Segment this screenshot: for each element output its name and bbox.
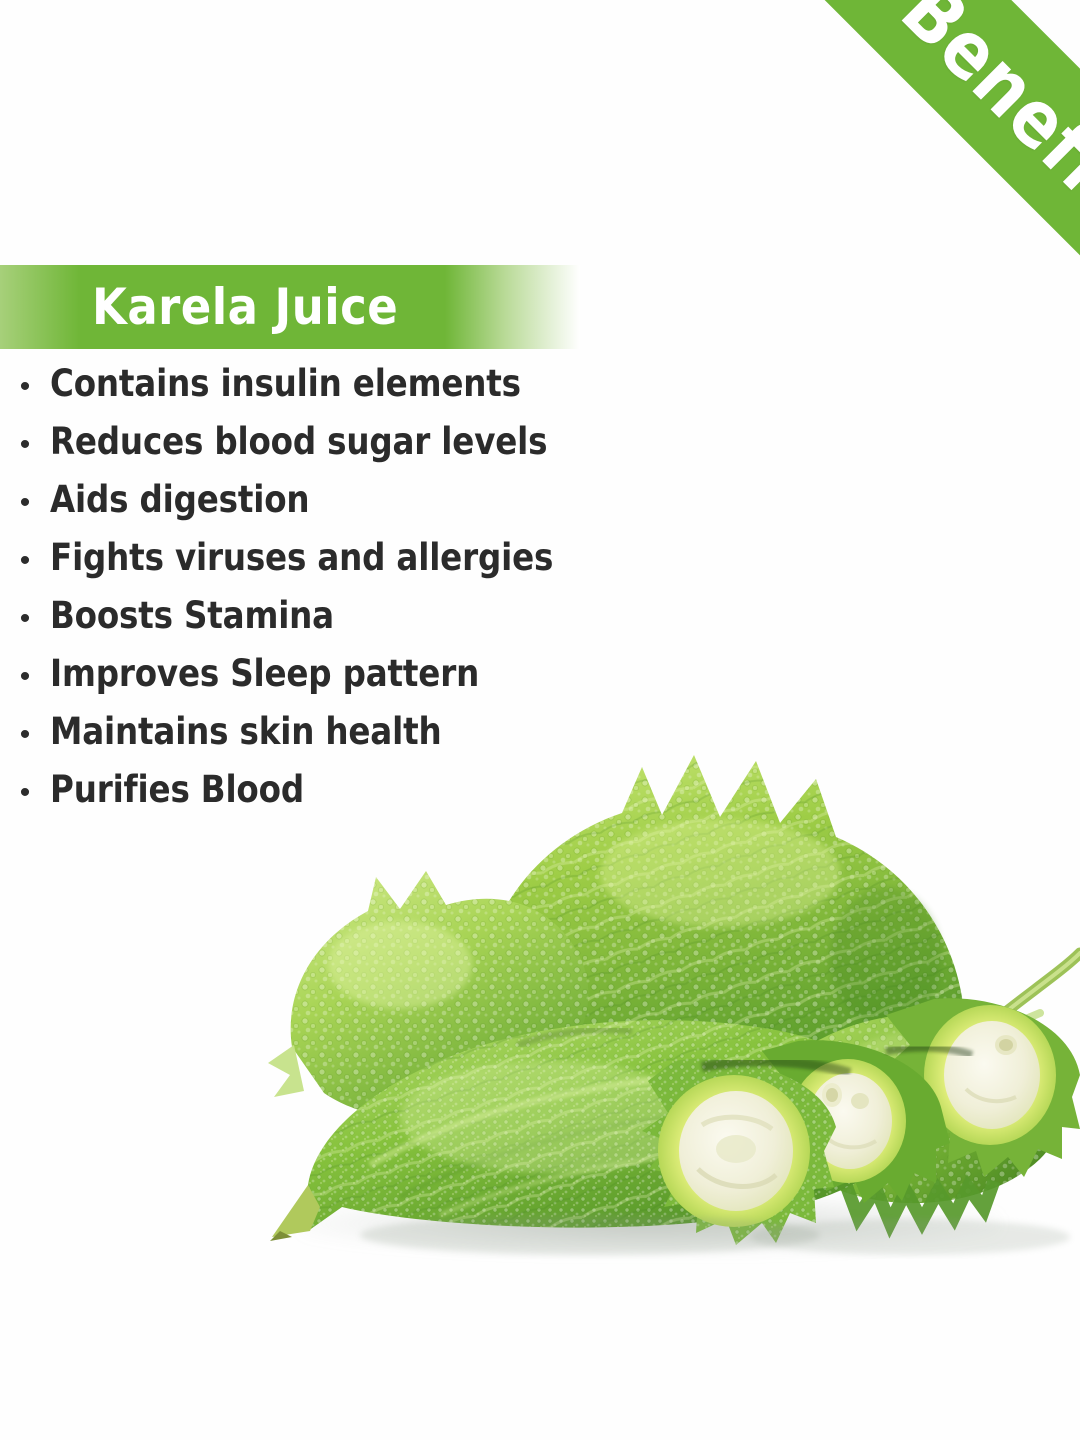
title-banner: Karela Juice: [0, 265, 580, 349]
list-item: • Boosts Stamina: [0, 594, 700, 652]
bullet-icon: •: [0, 546, 50, 576]
list-item: • Improves Sleep pattern: [0, 652, 700, 710]
benefit-label: Aids digestion: [50, 478, 309, 521]
bullet-icon: •: [0, 662, 50, 692]
benefit-label: Fights viruses and allergies: [50, 536, 553, 579]
bullet-icon: •: [0, 372, 50, 402]
bullet-icon: •: [0, 720, 50, 750]
ribbon-band: Benefits: [759, 0, 1080, 387]
bullet-icon: •: [0, 430, 50, 460]
produce-photo-bitter-gourd: [250, 745, 1080, 1265]
benefit-label: Improves Sleep pattern: [50, 652, 479, 695]
bitter-gourd-illustration: [250, 745, 1080, 1265]
bullet-icon: •: [0, 488, 50, 518]
list-item: • Contains insulin elements: [0, 362, 700, 420]
list-item: • Reduces blood sugar levels: [0, 420, 700, 478]
page-title: Karela Juice: [92, 278, 398, 336]
bullet-icon: •: [0, 778, 50, 808]
infographic-poster: Benefits Karela Juice • Contains insulin…: [0, 0, 1080, 1440]
benefit-label: Reduces blood sugar levels: [50, 420, 547, 463]
benefit-label: Boosts Stamina: [50, 594, 334, 637]
benefit-label: Contains insulin elements: [50, 362, 521, 405]
ribbon-label: Benefits: [884, 0, 1080, 262]
benefits-corner-ribbon: Benefits: [660, 0, 1080, 420]
list-item: • Aids digestion: [0, 478, 700, 536]
bullet-icon: •: [0, 604, 50, 634]
list-item: • Fights viruses and allergies: [0, 536, 700, 594]
